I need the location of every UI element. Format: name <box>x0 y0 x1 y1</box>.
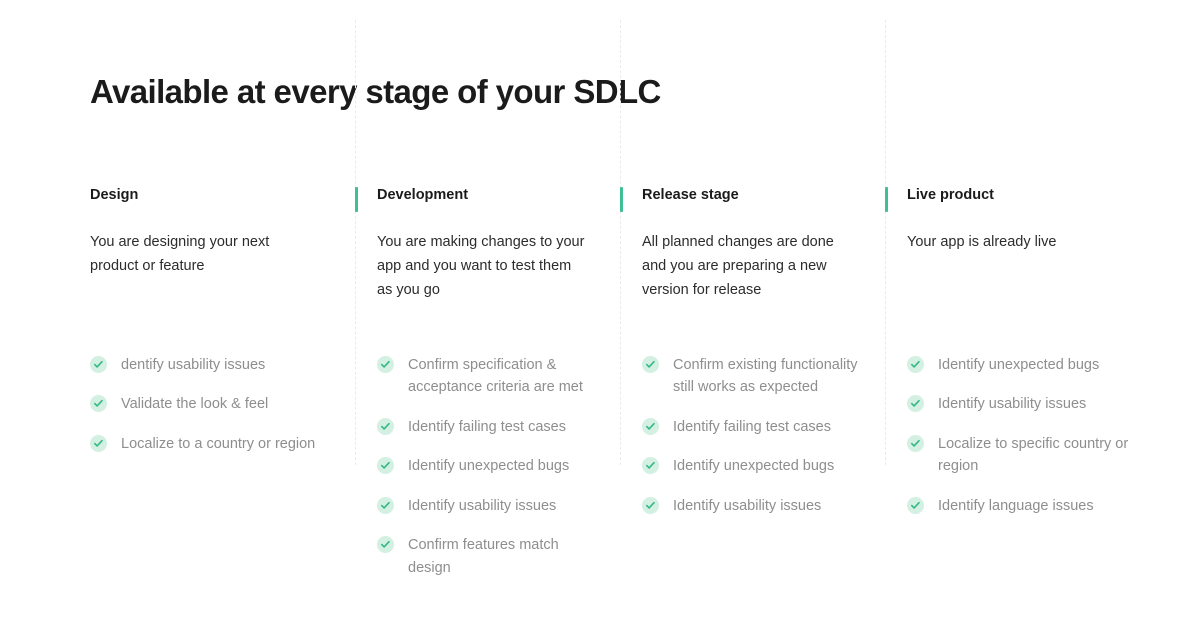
stage-checklist: dentify usability issuesValidate the loo… <box>90 354 337 455</box>
check-circle-icon <box>642 356 659 373</box>
check-circle-icon <box>90 435 107 452</box>
checklist-item-label: Identify unexpected bugs <box>938 354 1099 376</box>
list-item: Identify failing test cases <box>377 416 602 438</box>
checklist-item-label: Validate the look & feel <box>121 393 268 415</box>
stage-heading: Development <box>377 186 602 205</box>
list-item: Validate the look & feel <box>90 393 337 415</box>
checklist-item-label: Identify unexpected bugs <box>408 455 569 477</box>
check-circle-icon <box>642 418 659 435</box>
stage-checklist: Confirm specification & acceptance crite… <box>377 354 602 579</box>
stage-checklist: Identify unexpected bugsIdentify usabili… <box>907 354 1132 517</box>
stage-heading: Design <box>90 186 337 205</box>
stage-description: All planned changes are done and you are… <box>642 231 852 303</box>
stage-column-header-group: DesignYou are designing your next produc… <box>90 186 337 279</box>
checklist-item-label: Localize to a country or region <box>121 433 315 455</box>
checklist-item-label: Confirm existing functionality still wor… <box>673 354 867 399</box>
checklist-item-label: Identify usability issues <box>938 393 1086 415</box>
checklist-item-label: Identify failing test cases <box>408 416 566 438</box>
column-divider <box>355 20 356 465</box>
list-item: Identify failing test cases <box>642 416 867 438</box>
check-circle-icon <box>907 435 924 452</box>
list-item: dentify usability issues <box>90 354 337 376</box>
stage-description: You are designing your next product or f… <box>90 231 300 279</box>
stage-description: Your app is already live <box>907 231 1117 255</box>
stage-heading: Live product <box>907 186 1132 205</box>
stage-checklist: Confirm existing functionality still wor… <box>642 354 867 517</box>
stage-column-header-group: Release stageAll planned changes are don… <box>620 186 867 303</box>
check-circle-icon <box>377 418 394 435</box>
check-circle-icon <box>907 356 924 373</box>
check-circle-icon <box>377 536 394 553</box>
check-circle-icon <box>377 457 394 474</box>
checklist-item-label: Identify usability issues <box>408 495 556 517</box>
column-accent-bar <box>355 187 358 212</box>
column-divider <box>620 20 621 465</box>
checklist-item-label: Confirm features match design <box>408 534 602 579</box>
check-circle-icon <box>642 497 659 514</box>
stage-column: Live productYour app is already liveIden… <box>885 186 1150 616</box>
column-accent-bar <box>885 187 888 212</box>
list-item: Identify unexpected bugs <box>642 455 867 477</box>
stage-column-header-group: DevelopmentYou are making changes to you… <box>355 186 602 303</box>
list-item: Identify unexpected bugs <box>377 455 602 477</box>
list-item: Confirm features match design <box>377 534 602 579</box>
checklist-item-label: Identify language issues <box>938 495 1094 517</box>
checklist-item-label: Confirm specification & acceptance crite… <box>408 354 602 399</box>
check-circle-icon <box>907 395 924 412</box>
checklist-item-label: Identify failing test cases <box>673 416 831 438</box>
page-title: Available at every stage of your SDLC <box>90 72 661 112</box>
stage-column-header-group: Live productYour app is already live <box>885 186 1132 255</box>
list-item: Localize to specific country or region <box>907 433 1132 478</box>
list-item: Identify language issues <box>907 495 1132 517</box>
check-circle-icon <box>907 497 924 514</box>
stage-columns: DesignYou are designing your next produc… <box>90 186 1114 616</box>
check-circle-icon <box>90 356 107 373</box>
sdlc-stages-slide: Available at every stage of your SDLC De… <box>0 0 1200 631</box>
list-item: Identify usability issues <box>377 495 602 517</box>
checklist-item-label: Localize to specific country or region <box>938 433 1132 478</box>
stage-heading: Release stage <box>642 186 867 205</box>
checklist-item-label: Identify unexpected bugs <box>673 455 834 477</box>
check-circle-icon <box>377 356 394 373</box>
stage-description: You are making changes to your app and y… <box>377 231 587 303</box>
list-item: Identify usability issues <box>907 393 1132 415</box>
checklist-item-label: dentify usability issues <box>121 354 265 376</box>
check-circle-icon <box>90 395 107 412</box>
stage-column: Release stageAll planned changes are don… <box>620 186 885 616</box>
check-circle-icon <box>377 497 394 514</box>
list-item: Confirm specification & acceptance crite… <box>377 354 602 399</box>
checklist-item-label: Identify usability issues <box>673 495 821 517</box>
check-circle-icon <box>642 457 659 474</box>
list-item: Identify usability issues <box>642 495 867 517</box>
stage-column: DesignYou are designing your next produc… <box>90 186 355 616</box>
column-divider <box>885 20 886 465</box>
column-accent-bar <box>620 187 623 212</box>
list-item: Confirm existing functionality still wor… <box>642 354 867 399</box>
stage-column: DevelopmentYou are making changes to you… <box>355 186 620 616</box>
list-item: Localize to a country or region <box>90 433 337 455</box>
list-item: Identify unexpected bugs <box>907 354 1132 376</box>
